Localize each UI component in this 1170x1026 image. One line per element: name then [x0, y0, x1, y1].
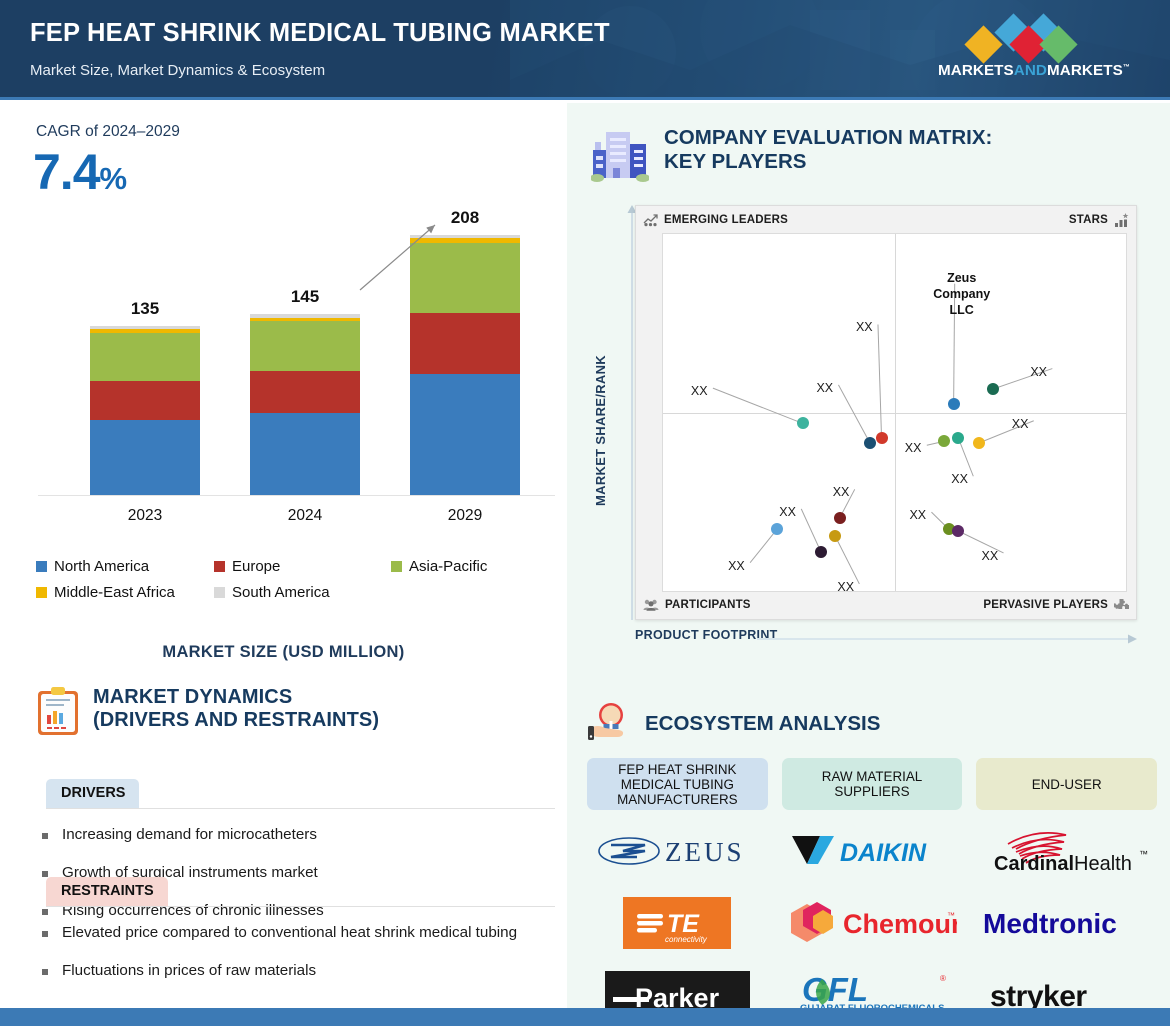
matrix-point-label: XX	[982, 549, 999, 563]
matrix-point-label: XX	[1012, 417, 1029, 431]
puzzle-icon	[1114, 598, 1129, 612]
cagr-label: CAGR of 2024–2029	[36, 123, 180, 141]
chart-plot-area	[38, 195, 555, 495]
x-axis-tick-2024: 2024	[235, 507, 375, 525]
matrix-highlight-label: ZeusCompanyLLC	[917, 270, 1007, 318]
matrix-bottom-labels: PARTICIPANTS PERVASIVE PLAYERS	[636, 592, 1136, 618]
leader-line	[713, 388, 803, 423]
ecosystem-header: ECOSYSTEM ANALYSIS	[587, 701, 880, 747]
bar-segment-europe	[250, 371, 360, 412]
matrix-point-label: XX	[691, 384, 708, 398]
matrix-dot-stars[interactable]	[948, 398, 960, 410]
bar-segment-north-america	[250, 413, 360, 496]
matrix-dot-emerging-leaders[interactable]	[876, 432, 888, 444]
bullet-square-icon	[42, 833, 48, 839]
ecosystem-column-end-user: END-USER Cardinal Health ™	[976, 758, 1157, 1022]
svg-text:Health: Health	[1074, 853, 1132, 874]
svg-text:®: ®	[940, 974, 946, 983]
logo-diamonds	[938, 18, 1128, 58]
bullet-square-icon	[42, 931, 48, 937]
matrix-dot-stars[interactable]	[973, 437, 985, 449]
bar-segment-asia-pacific	[90, 333, 200, 382]
matrix-point-label: XX	[856, 320, 873, 334]
bar-2029	[410, 235, 520, 495]
ecosystem-column-header: RAW MATERIAL SUPPLIERS	[782, 758, 963, 810]
matrix-point-label: XX	[728, 559, 745, 573]
market-dynamics-header: MARKET DYNAMICS (DRIVERS AND RESTRAINTS)	[36, 686, 379, 736]
bullet-square-icon	[42, 871, 48, 877]
restraint-text-1: Elevated price compared to conventional …	[62, 923, 517, 943]
leader-line	[835, 536, 859, 584]
drivers-label: DRIVERS	[61, 785, 125, 801]
legend-label-europe: Europe	[232, 558, 280, 575]
matrix-top-labels: EMERGING LEADERS STARS	[636, 207, 1136, 233]
restraints-list: Elevated price compared to conventional …	[42, 923, 547, 999]
legend-label-asia-pacific: Asia-Pacific	[409, 558, 487, 575]
quadrant-label-participants: PARTICIPANTS	[643, 599, 751, 611]
matrix-frame: EMERGING LEADERS STARS XXXXXXZeusCompan	[635, 205, 1137, 620]
left-panel: CAGR of 2024–2029 7.4% 13520231452024208…	[0, 103, 567, 1008]
header-underline	[0, 97, 1170, 100]
bar-2023	[90, 326, 200, 495]
restraints-rule	[46, 906, 555, 907]
logo-and: AND	[1014, 62, 1047, 79]
drivers-rule	[46, 808, 555, 809]
drivers-chip: DRIVERS	[46, 779, 139, 808]
matrix-dot-pervasive[interactable]	[952, 525, 964, 537]
legend-item-asia-pacific: Asia-Pacific	[391, 558, 487, 575]
legend-label-north-america: North America	[54, 558, 149, 575]
legend-item-south-america: South America	[214, 584, 391, 601]
leader-line	[878, 324, 882, 437]
ecosystem-columns: FEP HEAT SHRINK MEDICAL TUBING MANUFACTU…	[587, 758, 1157, 1022]
matrix-title-line1: COMPANY EVALUATION MATRIX:	[664, 126, 992, 149]
hand-person-icon	[587, 701, 633, 747]
cardinal-health-logo: Cardinal Health ™	[982, 824, 1152, 878]
star-bars-icon	[1114, 213, 1129, 227]
matrix-dot-stars[interactable]	[952, 432, 964, 444]
office-building-icon	[591, 126, 649, 182]
bar-segment-north-america	[410, 374, 520, 495]
matrix-point-label: XX	[909, 508, 926, 522]
cagr-value: 7.4%	[33, 143, 126, 201]
matrix-dot-stars[interactable]	[987, 383, 999, 395]
matrix-y-axis-label: MARKET SHARE/RANK	[593, 355, 608, 506]
quadrant-text-stars: STARS	[1069, 214, 1108, 226]
quadrant-label-pervasive-players: PERVASIVE PLAYERS	[983, 598, 1129, 612]
chart-axis-line	[38, 495, 555, 496]
leader-line	[838, 385, 869, 443]
matrix-dot-participants[interactable]	[815, 546, 827, 558]
company-matrix-title: COMPANY EVALUATION MATRIX: KEY PLAYERS	[664, 126, 992, 174]
quadrant-label-stars: STARS	[1069, 213, 1129, 227]
evaluation-matrix: MARKET SHARE/RANK EMERGING LEADERS STARS	[607, 205, 1137, 630]
bar-segment-europe	[90, 381, 200, 420]
marketsandmarkets-logo: MARKETSANDMARKETS™	[938, 18, 1128, 84]
matrix-point-label: XX	[816, 381, 833, 395]
matrix-plot-area: XXXXXXZeusCompanyLLCXXXXXXXXXXXXXXXXXXXX	[662, 233, 1127, 592]
matrix-dot-participants[interactable]	[834, 512, 846, 524]
bar-segment-asia-pacific	[250, 321, 360, 371]
matrix-dot-emerging-leaders[interactable]	[864, 437, 876, 449]
ecosystem-header-text-3: END-USER	[1032, 777, 1102, 792]
matrix-point-label: XX	[779, 505, 796, 519]
svg-text:Cardinal: Cardinal	[994, 853, 1074, 874]
restraints-chip: RESTRAINTS	[46, 877, 168, 906]
matrix-dot-participants[interactable]	[771, 523, 783, 535]
matrix-horizontal-divider	[663, 413, 1126, 414]
legend-row-2: Middle-East Africa South America	[36, 584, 556, 601]
ecosystem-column-header: FEP HEAT SHRINK MEDICAL TUBING MANUFACTU…	[587, 758, 768, 810]
right-panel: COMPANY EVALUATION MATRIX: KEY PLAYERS M…	[567, 103, 1170, 1008]
bar-total-label: 135	[75, 299, 215, 319]
svg-text:™: ™	[1139, 849, 1148, 859]
restraints-label: RESTRAINTS	[61, 883, 154, 899]
ecosystem-column-raw-material: RAW MATERIAL SUPPLIERS DAIKIN	[782, 758, 963, 1022]
quadrant-label-emerging-leaders: EMERGING LEADERS	[643, 214, 788, 227]
ecosystem-logo-list: Cardinal Health ™ Medtronic stryker	[976, 824, 1157, 1022]
matrix-highlight-line-1: Zeus	[917, 270, 1007, 286]
page-header: FEP HEAT SHRINK MEDICAL TUBING MARKET Ma…	[0, 0, 1170, 100]
x-axis-arrow-icon	[757, 634, 1137, 644]
chart-legend: North America Europe Asia-Pacific Middle…	[36, 558, 556, 610]
x-axis-tick-2029: 2029	[395, 507, 535, 525]
legend-swatch-asia-pacific	[391, 561, 402, 572]
matrix-point-label: XX	[951, 472, 968, 486]
market-size-chart: 135202314520242082029	[30, 195, 555, 520]
legend-swatch-south-america	[214, 587, 225, 598]
cagr-percent-sign: %	[100, 161, 127, 196]
svg-text:DAIKIN: DAIKIN	[840, 839, 927, 867]
market-dynamics-title-line2: (DRIVERS AND RESTRAINTS)	[93, 709, 379, 731]
bar-total-label: 208	[395, 208, 535, 228]
ecosystem-column-header: END-USER	[976, 758, 1157, 810]
company-matrix-header: COMPANY EVALUATION MATRIX: KEY PLAYERS	[591, 126, 992, 182]
legend-item-europe: Europe	[214, 558, 391, 575]
logo-markets-1: MARKETS	[938, 62, 1014, 79]
ecosystem-logo-list: ZEUS TE connectivity	[587, 824, 768, 1022]
list-item: Elevated price compared to conventional …	[42, 923, 547, 943]
svg-text:TE: TE	[667, 910, 700, 938]
bar-segment-north-america	[90, 420, 200, 495]
bar-total-label: 145	[235, 287, 375, 307]
quadrant-text-pervasive-players: PERVASIVE PLAYERS	[983, 599, 1108, 611]
svg-text:Chemours: Chemours	[843, 909, 957, 939]
legend-row-1: North America Europe Asia-Pacific	[36, 558, 556, 575]
ecosystem-column-manufacturers: FEP HEAT SHRINK MEDICAL TUBING MANUFACTU…	[587, 758, 768, 1022]
medtronic-logo: Medtronic	[979, 896, 1154, 950]
page-footer-bar	[0, 1008, 1170, 1026]
restraint-text-2: Fluctuations in prices of raw materials	[62, 961, 316, 981]
x-axis-tick-2023: 2023	[75, 507, 215, 525]
bar-segment-europe	[410, 313, 520, 374]
legend-swatch-north-america	[36, 561, 47, 572]
chemours-logo: Chemours ™	[787, 896, 957, 950]
legend-swatch-europe	[214, 561, 225, 572]
ecosystem-header-text-2: RAW MATERIAL SUPPLIERS	[788, 769, 957, 799]
market-dynamics-title: MARKET DYNAMICS (DRIVERS AND RESTRAINTS)	[93, 686, 379, 733]
svg-text:Medtronic: Medtronic	[983, 908, 1117, 939]
chart-axis-title: MARKET SIZE (USD MILLION)	[0, 643, 567, 662]
matrix-title-line2: KEY PLAYERS	[664, 150, 806, 173]
bar-2024	[250, 314, 360, 495]
svg-text:™: ™	[947, 911, 955, 920]
matrix-highlight-line-3: LLC	[917, 302, 1007, 318]
legend-item-north-america: North America	[36, 558, 214, 575]
market-dynamics-title-line1: MARKET DYNAMICS	[93, 686, 292, 708]
logo-wordmark: MARKETSANDMARKETS™	[938, 62, 1128, 79]
logo-tm: ™	[1123, 64, 1130, 71]
svg-text:ZEUS: ZEUS	[665, 837, 745, 867]
quadrant-text-emerging-leaders: EMERGING LEADERS	[664, 214, 788, 226]
list-item: Increasing demand for microcatheters	[42, 825, 547, 845]
bar-segment-asia-pacific	[410, 243, 520, 313]
ecosystem-title: ECOSYSTEM ANALYSIS	[645, 712, 880, 736]
zeus-logo: ZEUS	[597, 824, 757, 878]
svg-text:connectivity: connectivity	[665, 935, 708, 944]
ecosystem-logo-list: DAIKIN Chemours ™ GFL	[782, 824, 963, 1022]
clipboard-chart-icon	[36, 686, 80, 736]
matrix-point-label: XX	[833, 485, 850, 499]
matrix-dot-stars[interactable]	[938, 435, 950, 447]
matrix-highlight-line-2: Company	[917, 286, 1007, 302]
people-group-icon	[643, 599, 659, 611]
cagr-number: 7.4	[33, 144, 100, 200]
driver-text-1: Increasing demand for microcatheters	[62, 825, 317, 845]
leader-line	[958, 438, 973, 476]
bullet-square-icon	[42, 969, 48, 975]
leader-line	[750, 529, 777, 562]
legend-item-middle-east-africa: Middle-East Africa	[36, 584, 214, 601]
matrix-point-label: XX	[1030, 365, 1047, 379]
legend-label-south-america: South America	[232, 584, 330, 601]
ecosystem-header-text-1: FEP HEAT SHRINK MEDICAL TUBING MANUFACTU…	[593, 762, 762, 807]
page-subtitle: Market Size, Market Dynamics & Ecosystem	[30, 62, 325, 79]
logo-markets-2: MARKETS	[1047, 62, 1123, 79]
daikin-logo: DAIKIN	[790, 824, 955, 878]
matrix-point-label: XX	[905, 441, 922, 455]
matrix-dot-participants[interactable]	[829, 530, 841, 542]
quadrant-text-participants: PARTICIPANTS	[665, 599, 751, 611]
matrix-dot-emerging-leaders[interactable]	[797, 417, 809, 429]
legend-label-middle-east-africa: Middle-East Africa	[54, 584, 175, 601]
page-title: FEP HEAT SHRINK MEDICAL TUBING MARKET	[30, 19, 610, 48]
te-connectivity-logo: TE connectivity	[623, 896, 731, 950]
legend-swatch-middle-east-africa	[36, 587, 47, 598]
bullet-square-icon	[42, 909, 48, 915]
growth-chart-people-icon	[643, 214, 658, 227]
list-item: Fluctuations in prices of raw materials	[42, 961, 547, 981]
